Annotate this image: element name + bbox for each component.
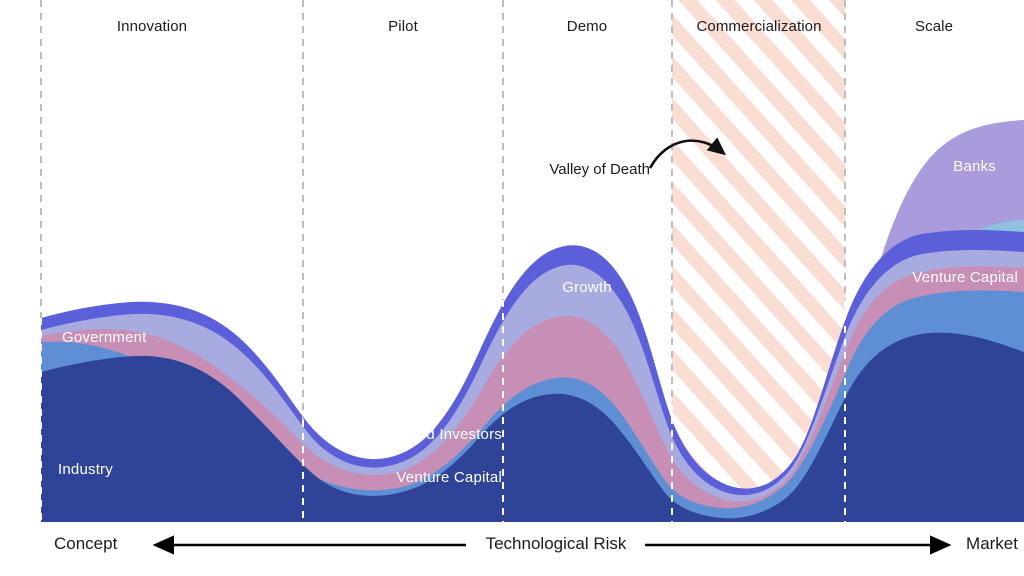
stage-label-demo: Demo — [567, 18, 607, 35]
stage-label-scale: Scale — [915, 18, 953, 35]
series-label-industry: Industry — [58, 461, 113, 478]
series-label-venture-capital: Venture Capital — [396, 469, 502, 486]
axis-label-concept: Concept — [54, 534, 117, 554]
axis-label-technological-risk: Technological Risk — [486, 534, 627, 554]
annotation-valley-of-death: Valley of Death — [549, 161, 650, 178]
stage-label-innovation: Innovation — [117, 18, 187, 35]
stage-label-commercialization: Commercialization — [696, 18, 821, 35]
axis-label-market: Market — [966, 534, 1018, 554]
series-label-growth: Growth — [562, 279, 612, 296]
series-label-venture-capital-scale: Venture Capital — [912, 269, 1018, 286]
series-label-government: Government — [62, 329, 147, 346]
axis-layer — [0, 0, 1024, 576]
series-label-seed-investors: Seed Investors — [399, 426, 502, 443]
chart-canvas: Innovation Pilot Demo Commercialization … — [0, 0, 1024, 576]
stage-label-pilot: Pilot — [388, 18, 418, 35]
series-label-banks: Banks — [953, 158, 996, 175]
